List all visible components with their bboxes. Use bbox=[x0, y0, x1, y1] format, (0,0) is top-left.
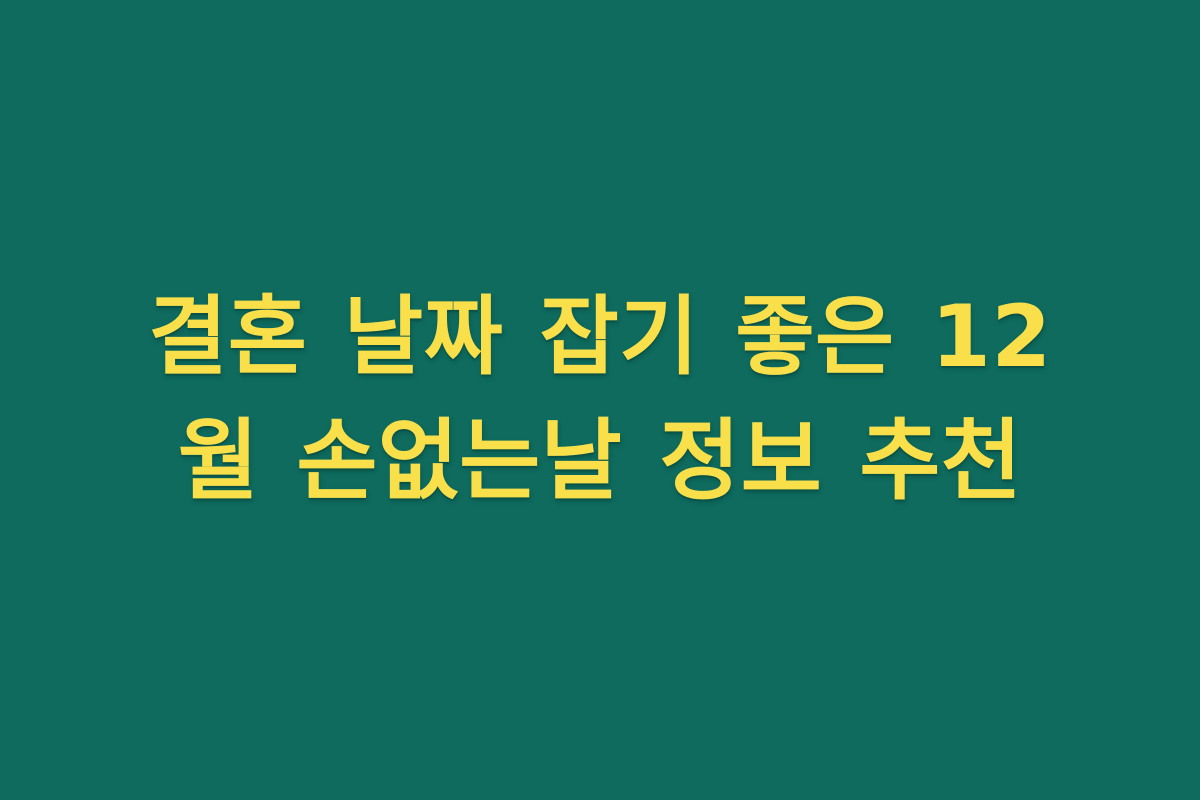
headline-line-1: 결혼 날짜 잡기 좋은 12 bbox=[80, 276, 1120, 398]
banner-headline: 결혼 날짜 잡기 좋은 12 월 손없는날 정보 추천 bbox=[80, 276, 1120, 523]
text-banner: 결혼 날짜 잡기 좋은 12 월 손없는날 정보 추천 bbox=[0, 0, 1200, 800]
headline-line-2: 월 손없는날 정보 추천 bbox=[80, 399, 1120, 524]
